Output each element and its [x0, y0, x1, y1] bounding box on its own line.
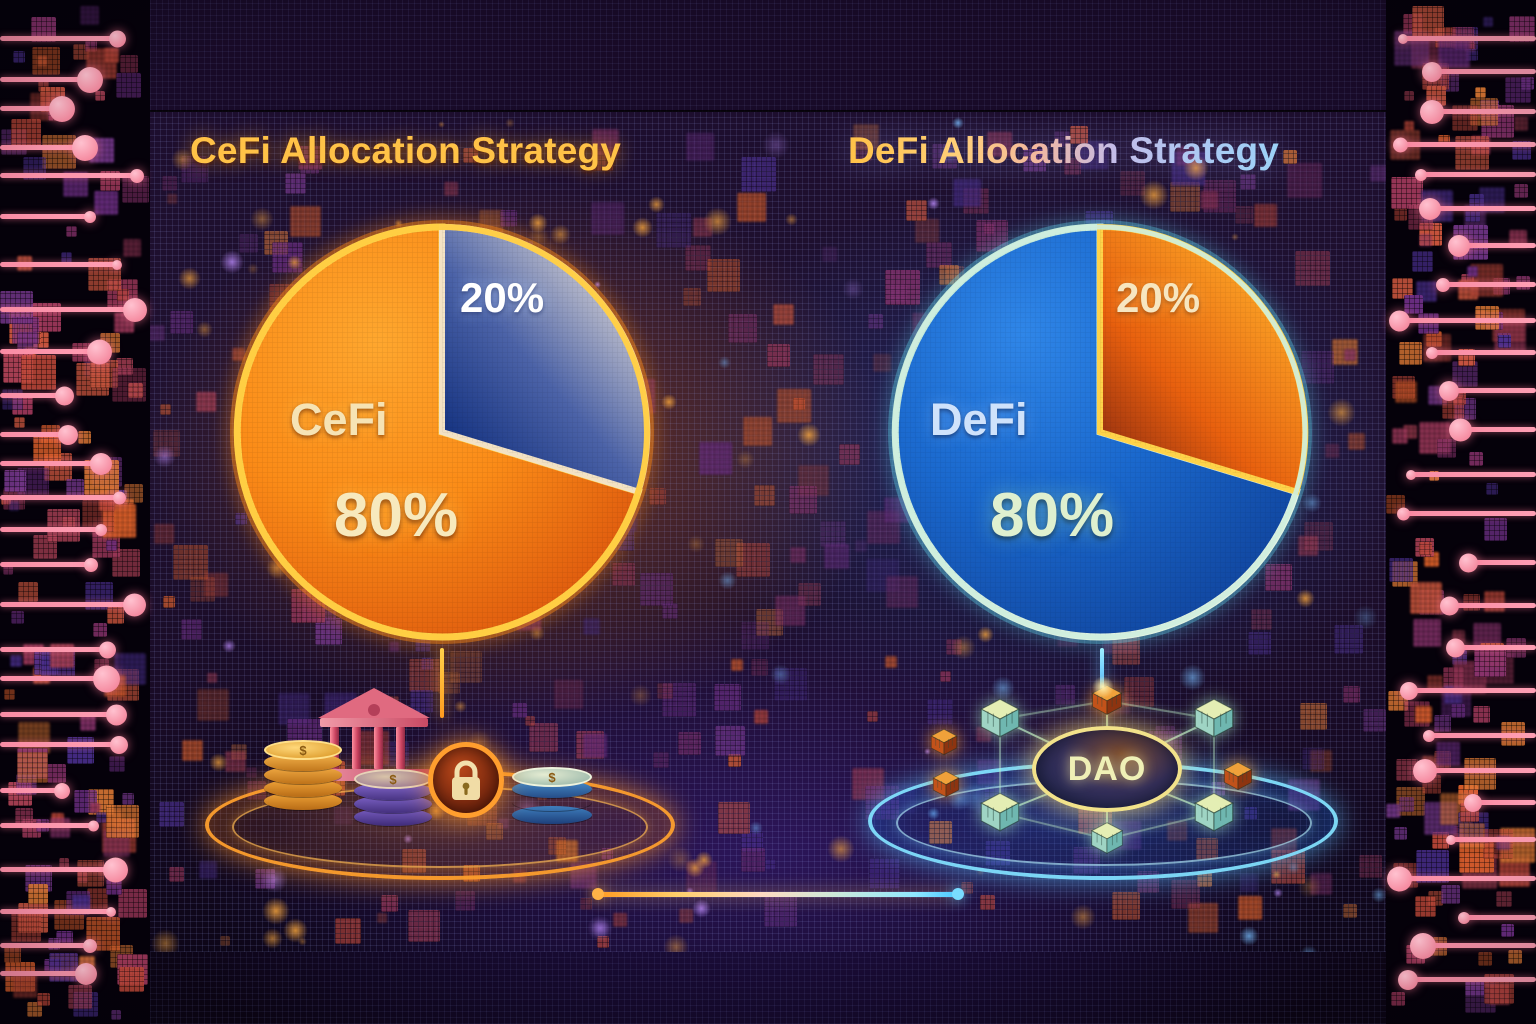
vignette-overlay	[0, 0, 1536, 1024]
infographic-canvas: CeFi Allocation Strategy DeFi Allocation…	[0, 0, 1536, 1024]
